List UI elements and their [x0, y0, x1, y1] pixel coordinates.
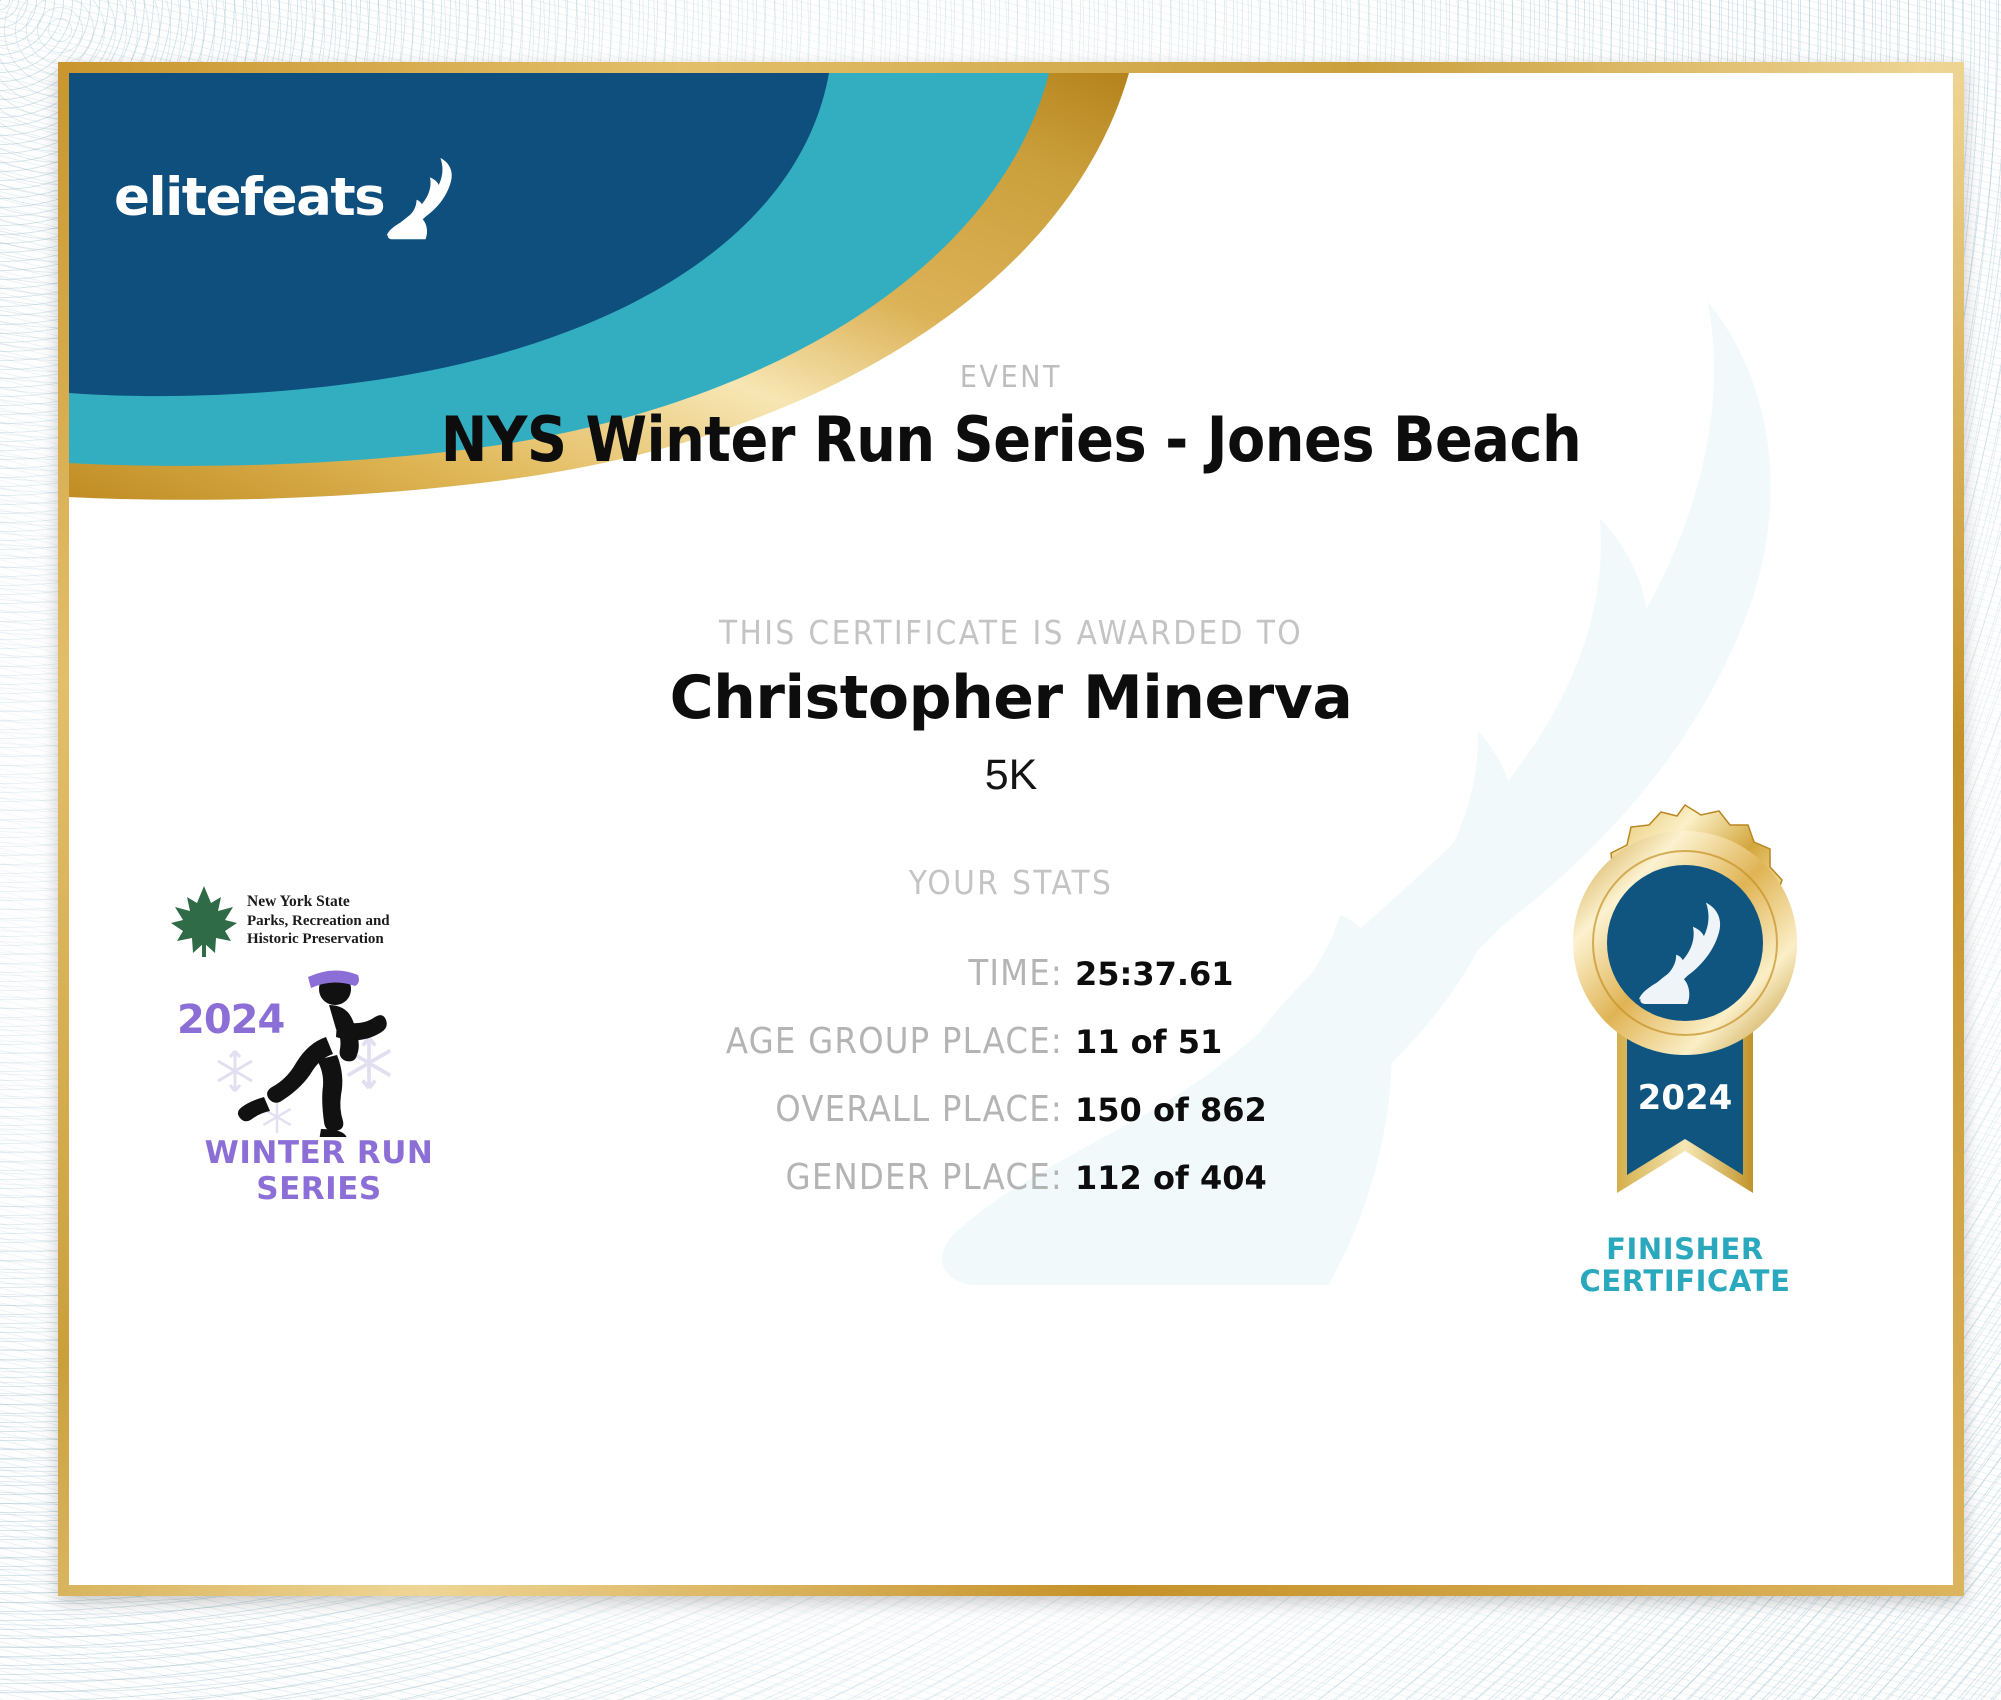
- nys-parks-logo: New York State Parks, Recreation and His…: [169, 883, 479, 959]
- agency-line-3: Historic Preservation: [247, 930, 390, 948]
- certificate-frame: elitefeats EVENT NYS Winter Run Series -…: [58, 62, 1964, 1596]
- stat-value-age-group-place: 11 of 51: [1075, 1023, 1285, 1061]
- medal-caption: FINISHER CERTIFICATE: [1535, 1233, 1835, 1298]
- medal-year: 2024: [1638, 1078, 1733, 1118]
- agency-line-2: Parks, Recreation and: [247, 912, 390, 930]
- stat-value-gender-place: 112 of 404: [1075, 1159, 1285, 1197]
- medal-rosette: [1573, 805, 1797, 1055]
- certificate-body: EVENT NYS Winter Run Series - Jones Beac…: [69, 73, 1953, 1585]
- stat-key-overall-place: OVERALL PLACE:: [775, 1089, 1063, 1130]
- stat-key-time: TIME:: [968, 953, 1063, 994]
- stat-key-gender-place: GENDER PLACE:: [786, 1157, 1063, 1198]
- maple-leaf-icon: [169, 883, 239, 959]
- winter-run-series-logo: 2024: [169, 967, 469, 1167]
- finisher-medal: 2024: [1535, 793, 1835, 1273]
- agency-line-1: New York State: [247, 893, 390, 912]
- nys-parks-text: New York State Parks, Recreation and His…: [247, 893, 390, 949]
- medal-caption-line-1: FINISHER: [1535, 1233, 1835, 1265]
- gold-rosette-icon: 2024: [1535, 793, 1835, 1273]
- event-label: EVENT: [69, 360, 1953, 395]
- series-title: WINTER RUN SERIES: [169, 1135, 469, 1207]
- stat-value-overall-place: 150 of 862: [1075, 1091, 1285, 1129]
- medal-caption-line-2: CERTIFICATE: [1535, 1265, 1835, 1297]
- running-figure-icon: [238, 970, 387, 1137]
- awarded-to-label: THIS CERTIFICATE IS AWARDED TO: [69, 613, 1953, 652]
- stat-key-age-group-place: AGE GROUP PLACE:: [726, 1021, 1063, 1062]
- event-title: NYS Winter Run Series - Jones Beach: [69, 403, 1953, 476]
- recipient-name: Christopher Minerva: [69, 663, 1953, 733]
- series-artwork: [169, 967, 469, 1137]
- sponsor-logos: New York State Parks, Recreation and His…: [169, 883, 479, 1167]
- stat-value-time: 25:37.61: [1075, 955, 1285, 993]
- certificate-page: elitefeats EVENT NYS Winter Run Series -…: [0, 0, 2001, 1700]
